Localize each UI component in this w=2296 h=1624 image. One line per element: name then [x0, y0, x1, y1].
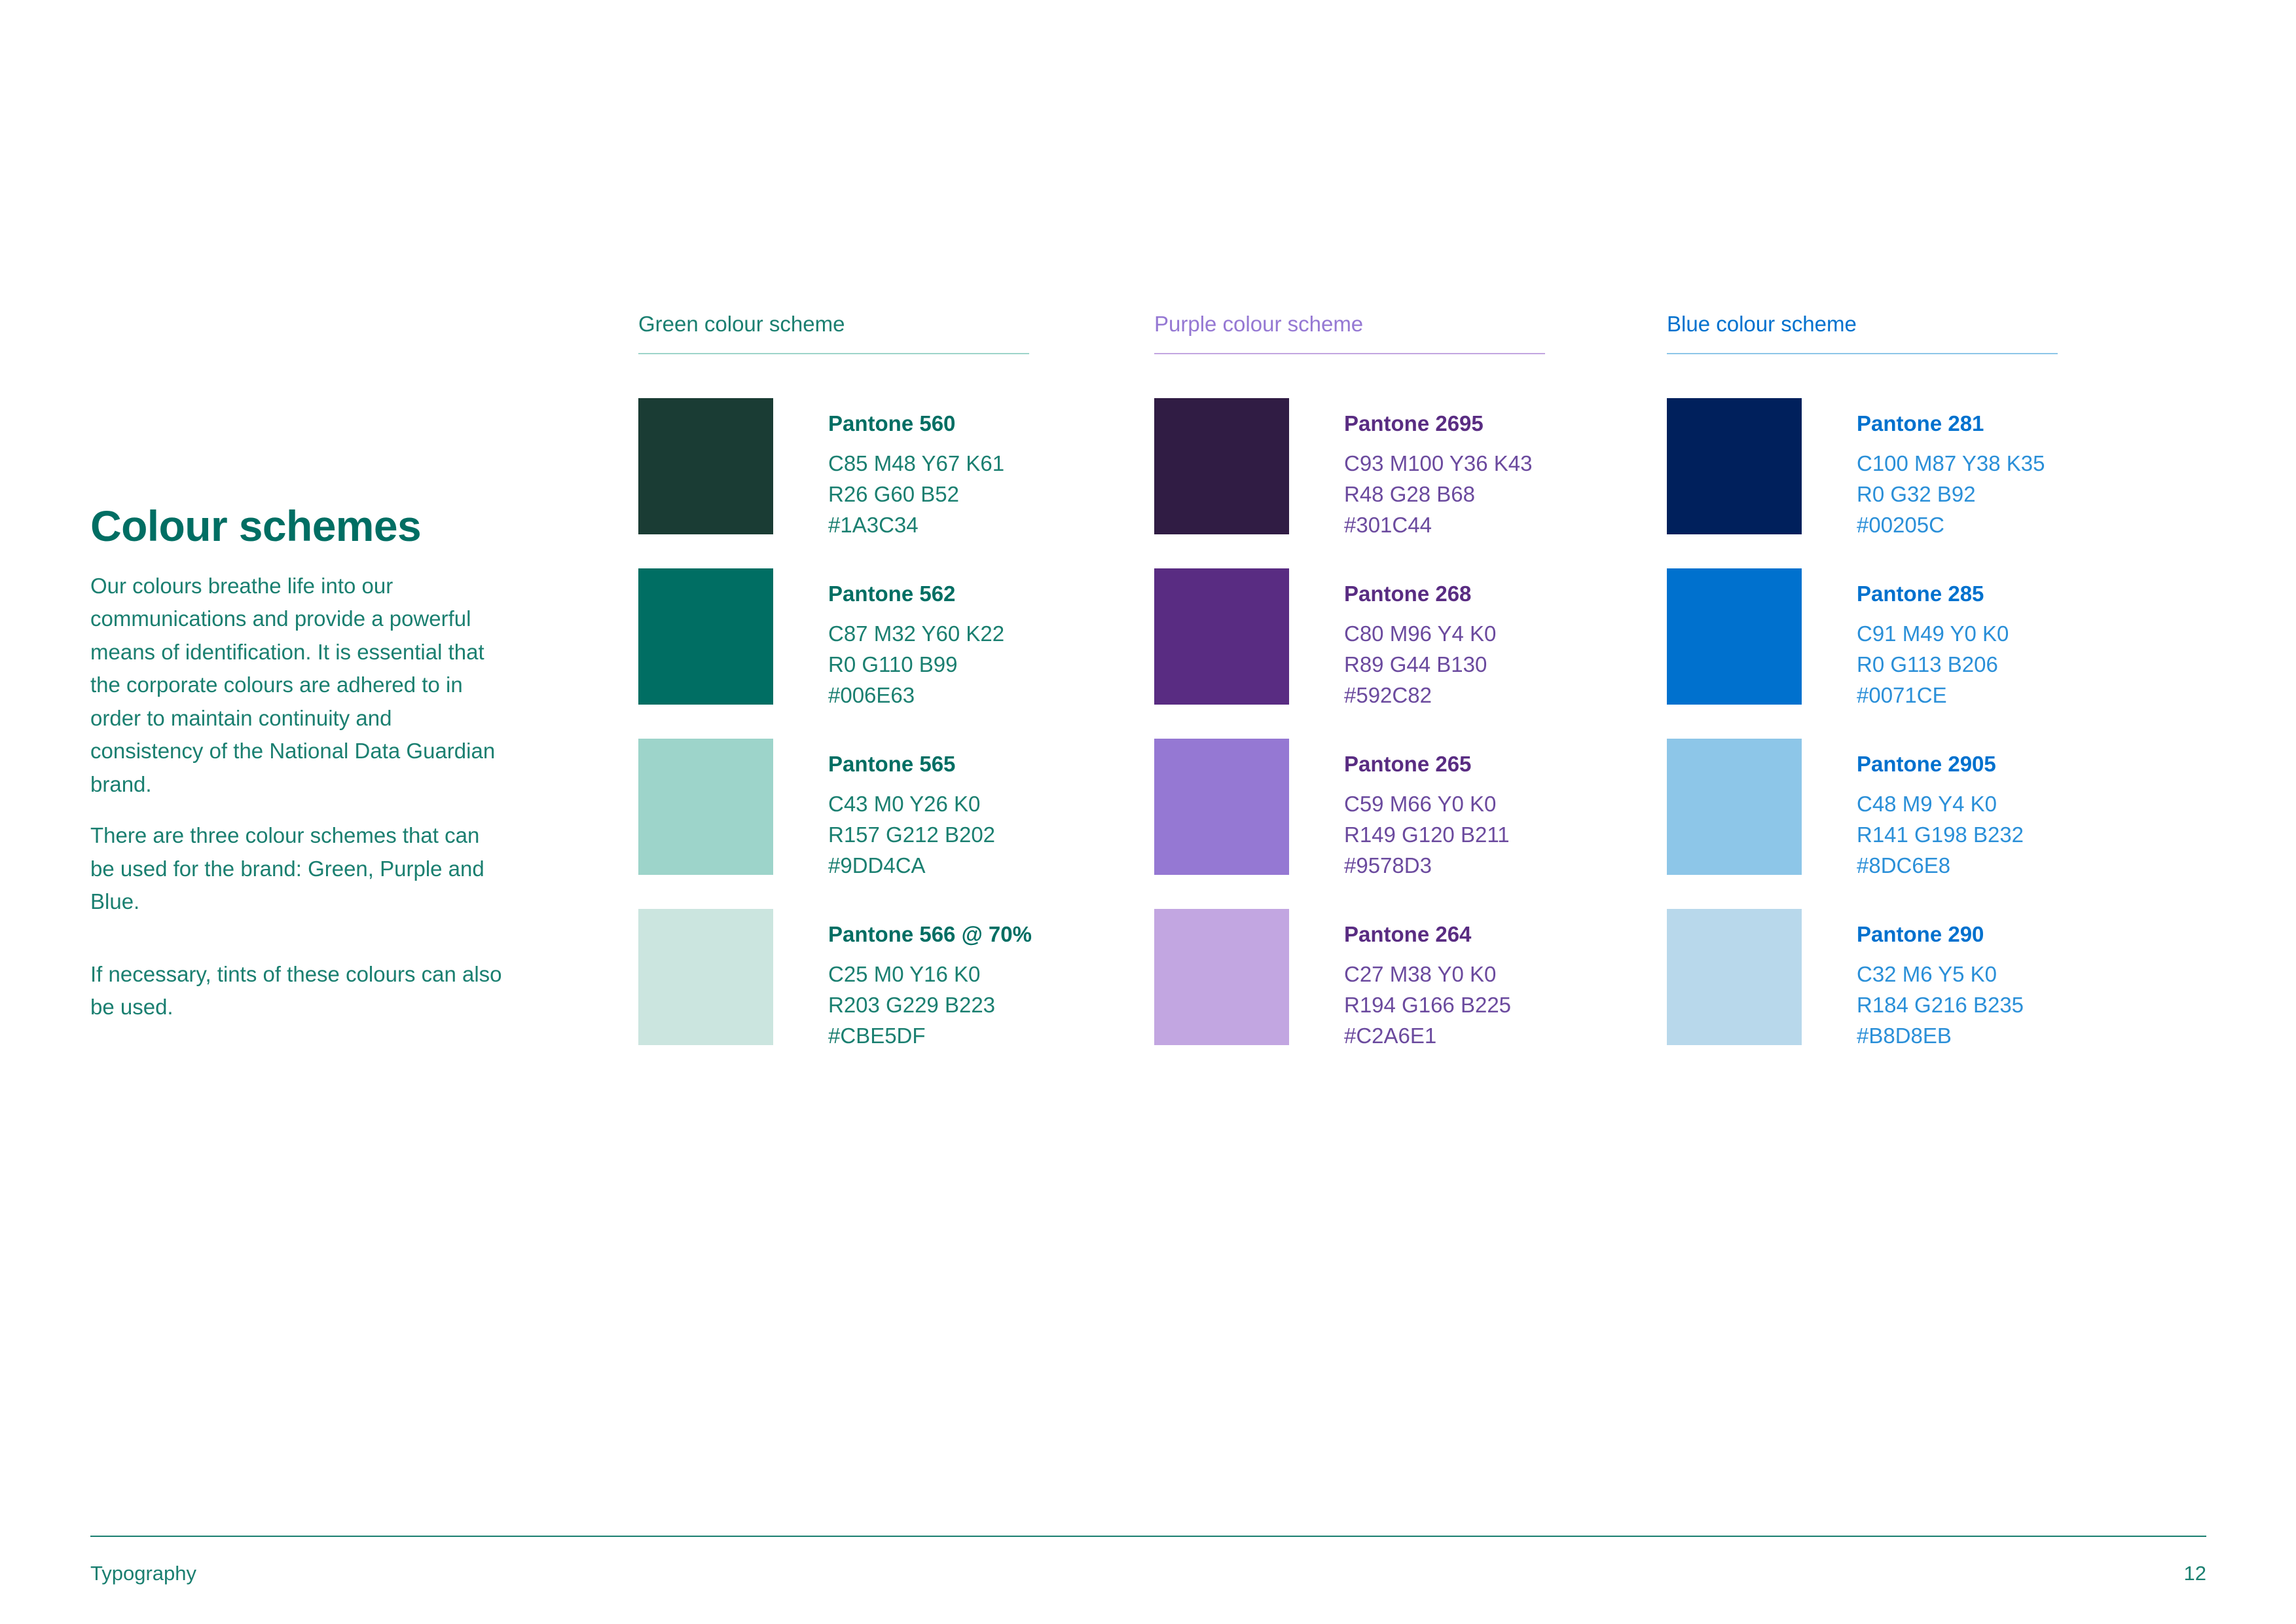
colour-scheme-column-green: Green colour scheme Pantone 560 C85 M48 …	[638, 313, 1031, 1079]
intro-paragraph-1: Our colours breathe life into our commun…	[90, 570, 509, 801]
swatch-rgb-value: R26 G60 B52	[828, 479, 1004, 510]
scheme-divider-green	[638, 353, 1029, 354]
swatch-rgb-value: R89 G44 B130	[1344, 650, 1496, 680]
swatch-pantone-name: Pantone 565	[828, 753, 995, 775]
swatch-cmyk-value: C43 M0 Y26 K0	[828, 789, 995, 820]
swatch-row: Pantone 264 C27 M38 Y0 K0 R194 G166 B225…	[1154, 909, 1547, 1045]
colour-scheme-column-purple: Purple colour scheme Pantone 2695 C93 M1…	[1154, 313, 1547, 1079]
swatch-hex-value: #301C44	[1344, 510, 1532, 541]
swatch-rgb-value: R203 G229 B223	[828, 990, 1032, 1021]
swatch-cmyk-value: C100 M87 Y38 K35	[1857, 449, 2045, 479]
swatch-hex-value: #C2A6E1	[1344, 1021, 1511, 1052]
swatch-info: Pantone 2905 C48 M9 Y4 K0 R141 G198 B232…	[1857, 739, 2024, 881]
swatch-pantone-name: Pantone 285	[1857, 583, 2009, 604]
swatch-cmyk-value: C91 M49 Y0 K0	[1857, 619, 2009, 650]
swatch-info: Pantone 565 C43 M0 Y26 K0 R157 G212 B202…	[828, 739, 995, 881]
swatch-pantone-name: Pantone 290	[1857, 923, 2024, 945]
swatch-pantone-name: Pantone 566 @ 70%	[828, 923, 1032, 945]
colour-swatch-chip	[1667, 568, 1802, 705]
scheme-divider-blue	[1667, 353, 2058, 354]
swatch-hex-value: #592C82	[1344, 680, 1496, 711]
swatch-hex-value: #B8D8EB	[1857, 1021, 2024, 1052]
swatch-hex-value: #1A3C34	[828, 510, 1004, 541]
swatch-hex-value: #8DC6E8	[1857, 851, 2024, 881]
swatch-hex-value: #00205C	[1857, 510, 2045, 541]
swatch-info: Pantone 281 C100 M87 Y38 K35 R0 G32 B92 …	[1857, 398, 2045, 541]
swatch-row: Pantone 565 C43 M0 Y26 K0 R157 G212 B202…	[638, 739, 1031, 875]
swatch-pantone-name: Pantone 562	[828, 583, 1004, 604]
swatch-info: Pantone 562 C87 M32 Y60 K22 R0 G110 B99 …	[828, 568, 1004, 711]
scheme-divider-purple	[1154, 353, 1545, 354]
swatch-info: Pantone 290 C32 M6 Y5 K0 R184 G216 B235 …	[1857, 909, 2024, 1052]
swatch-info: Pantone 566 @ 70% C25 M0 Y16 K0 R203 G22…	[828, 909, 1032, 1052]
scheme-heading-green: Green colour scheme	[638, 313, 1031, 353]
swatch-pantone-name: Pantone 264	[1344, 923, 1511, 945]
swatch-info: Pantone 285 C91 M49 Y0 K0 R0 G113 B206 #…	[1857, 568, 2009, 711]
swatch-info: Pantone 264 C27 M38 Y0 K0 R194 G166 B225…	[1344, 909, 1511, 1052]
swatch-hex-value: #0071CE	[1857, 680, 2009, 711]
swatch-row: Pantone 265 C59 M66 Y0 K0 R149 G120 B211…	[1154, 739, 1547, 875]
intro-paragraph-3: If necessary, tints of these colours can…	[90, 958, 509, 1024]
swatch-hex-value: #9578D3	[1344, 851, 1510, 881]
swatch-cmyk-value: C25 M0 Y16 K0	[828, 959, 1032, 990]
colour-swatch-chip	[1154, 398, 1289, 534]
swatch-info: Pantone 268 C80 M96 Y4 K0 R89 G44 B130 #…	[1344, 568, 1496, 711]
swatch-rgb-value: R0 G113 B206	[1857, 650, 2009, 680]
swatch-cmyk-value: C48 M9 Y4 K0	[1857, 789, 2024, 820]
swatch-info: Pantone 2695 C93 M100 Y36 K43 R48 G28 B6…	[1344, 398, 1532, 541]
colour-swatch-chip	[1154, 909, 1289, 1045]
swatch-row: Pantone 2905 C48 M9 Y4 K0 R141 G198 B232…	[1667, 739, 2060, 875]
colour-swatch-chip	[638, 398, 773, 534]
swatch-row: Pantone 562 C87 M32 Y60 K22 R0 G110 B99 …	[638, 568, 1031, 705]
footer-page-number: 12	[2184, 1562, 2206, 1585]
swatch-rgb-value: R0 G110 B99	[828, 650, 1004, 680]
swatch-row: Pantone 566 @ 70% C25 M0 Y16 K0 R203 G22…	[638, 909, 1031, 1045]
swatch-row: Pantone 285 C91 M49 Y0 K0 R0 G113 B206 #…	[1667, 568, 2060, 705]
footer-divider	[90, 1536, 2206, 1537]
swatch-pantone-name: Pantone 560	[828, 413, 1004, 434]
colour-swatch-chip	[638, 739, 773, 875]
swatch-hex-value: #CBE5DF	[828, 1021, 1032, 1052]
swatch-row: Pantone 2695 C93 M100 Y36 K43 R48 G28 B6…	[1154, 398, 1547, 534]
swatch-row: Pantone 560 C85 M48 Y67 K61 R26 G60 B52 …	[638, 398, 1031, 534]
swatch-rgb-value: R194 G166 B225	[1344, 990, 1511, 1021]
colour-swatch-chip	[1154, 568, 1289, 705]
swatch-rgb-value: R184 G216 B235	[1857, 990, 2024, 1021]
swatch-cmyk-value: C59 M66 Y0 K0	[1344, 789, 1510, 820]
scheme-heading-purple: Purple colour scheme	[1154, 313, 1547, 353]
swatch-pantone-name: Pantone 2695	[1344, 413, 1532, 434]
page-title: Colour schemes	[90, 504, 509, 547]
swatch-pantone-name: Pantone 2905	[1857, 753, 2024, 775]
swatch-hex-value: #9DD4CA	[828, 851, 995, 881]
swatch-rgb-value: R48 G28 B68	[1344, 479, 1532, 510]
colour-swatch-chip	[1154, 739, 1289, 875]
swatch-cmyk-value: C80 M96 Y4 K0	[1344, 619, 1496, 650]
colour-swatch-chip	[638, 909, 773, 1045]
swatch-cmyk-value: C32 M6 Y5 K0	[1857, 959, 2024, 990]
intro-block: Colour schemes Our colours breathe life …	[90, 504, 509, 1043]
swatch-info: Pantone 560 C85 M48 Y67 K61 R26 G60 B52 …	[828, 398, 1004, 541]
swatch-cmyk-value: C93 M100 Y36 K43	[1344, 449, 1532, 479]
intro-paragraph-2: There are three colour schemes that can …	[90, 819, 509, 918]
swatch-cmyk-value: C27 M38 Y0 K0	[1344, 959, 1511, 990]
swatch-pantone-name: Pantone 268	[1344, 583, 1496, 604]
colour-swatch-chip	[1667, 398, 1802, 534]
swatch-rgb-value: R149 G120 B211	[1344, 820, 1510, 851]
swatch-cmyk-value: C85 M48 Y67 K61	[828, 449, 1004, 479]
swatch-row: Pantone 268 C80 M96 Y4 K0 R89 G44 B130 #…	[1154, 568, 1547, 705]
swatch-rgb-value: R141 G198 B232	[1857, 820, 2024, 851]
scheme-heading-blue: Blue colour scheme	[1667, 313, 2060, 353]
colour-scheme-column-blue: Blue colour scheme Pantone 281 C100 M87 …	[1667, 313, 2060, 1079]
swatch-row: Pantone 281 C100 M87 Y38 K35 R0 G32 B92 …	[1667, 398, 2060, 534]
swatch-row: Pantone 290 C32 M6 Y5 K0 R184 G216 B235 …	[1667, 909, 2060, 1045]
swatch-pantone-name: Pantone 281	[1857, 413, 2045, 434]
colour-swatch-chip	[638, 568, 773, 705]
swatch-rgb-value: R0 G32 B92	[1857, 479, 2045, 510]
swatch-hex-value: #006E63	[828, 680, 1004, 711]
swatch-info: Pantone 265 C59 M66 Y0 K0 R149 G120 B211…	[1344, 739, 1510, 881]
swatch-pantone-name: Pantone 265	[1344, 753, 1510, 775]
swatch-rgb-value: R157 G212 B202	[828, 820, 995, 851]
colour-swatch-chip	[1667, 739, 1802, 875]
swatch-cmyk-value: C87 M32 Y60 K22	[828, 619, 1004, 650]
colour-swatch-chip	[1667, 909, 1802, 1045]
footer-section-label: Typography	[90, 1562, 196, 1585]
